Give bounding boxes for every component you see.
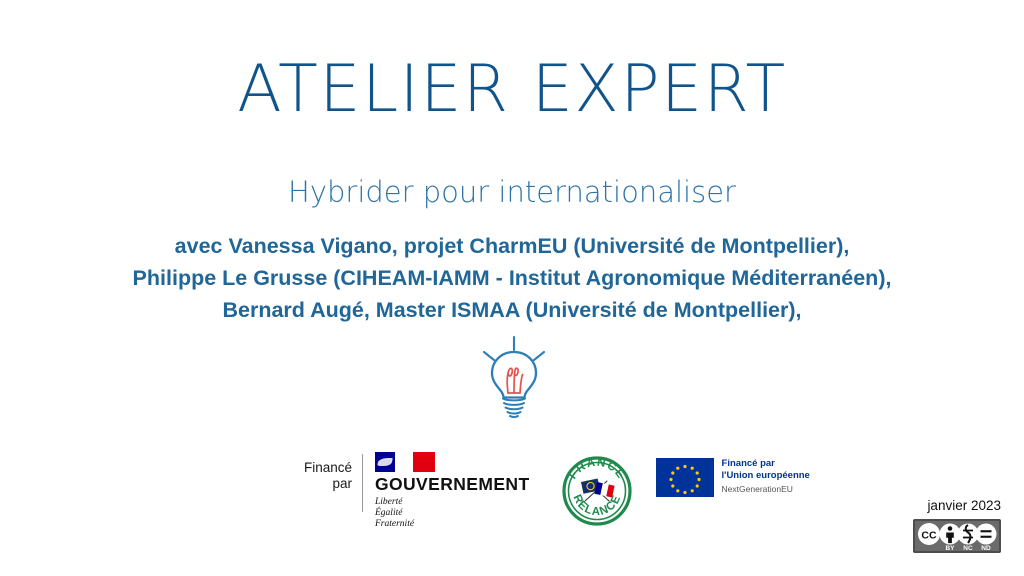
gouvernement-block: GOUVERNEMENT Liberté Égalité Fraternité: [363, 452, 530, 530]
cc-term-by: BY: [945, 545, 955, 552]
eu-flag-icon: [656, 458, 714, 497]
participant-line-2: Philippe Le Grusse (CIHEAM-IAMM - Instit…: [0, 262, 1024, 294]
cc-term-nd: ND: [981, 545, 991, 552]
page-title: ATELIER EXPERT: [0, 56, 1024, 124]
eu-line-3: NextGenerationEU: [722, 483, 810, 495]
motto-fraternite: Fraternité: [375, 519, 530, 530]
european-union-logo: Financé par l'Union européenne NextGener…: [656, 458, 810, 497]
funder-logos: Financé par GOUVERNEMENT Liberté Égalité…: [296, 452, 810, 542]
flag-blue-band: [375, 452, 395, 472]
svg-text:FRANCE: FRANCE: [567, 457, 627, 482]
motto-liberte: Liberté: [375, 497, 530, 508]
france-relance-logo: FRANCE RELANCE: [560, 454, 634, 533]
eu-funding-text: Financé par l'Union européenne NextGener…: [722, 458, 810, 495]
motto-egalite: Égalité: [375, 508, 530, 519]
cc-term-nc: NC: [963, 545, 973, 552]
creative-commons-license-badge[interactable]: CC BY NC ND: [913, 519, 1001, 558]
page-subtitle: Hybrider pour internationaliser: [0, 175, 1024, 210]
svg-text:CC: CC: [921, 530, 937, 542]
eu-line-2: l'Union européenne: [722, 470, 810, 482]
flag-red-band: [413, 452, 435, 472]
participant-line-1: avec Vanessa Vigano, projet CharmEU (Uni…: [0, 230, 1024, 262]
date-label: janvier 2023: [927, 498, 1001, 513]
lightbulb-icon: [468, 335, 560, 423]
participants-block: avec Vanessa Vigano, projet CharmEU (Uni…: [0, 230, 1024, 326]
svg-text:RELANCE: RELANCE: [570, 493, 623, 518]
slide-canvas: ATELIER EXPERT Hybrider pour internation…: [0, 0, 1024, 576]
participant-line-3: Bernard Augé, Master ISMAA (Université d…: [0, 294, 1024, 326]
flag-white-band: [395, 452, 413, 472]
french-flag-icon: [375, 452, 435, 472]
republic-motto: Liberté Égalité Fraternité: [375, 497, 530, 530]
gouvernement-logo: Financé par GOUVERNEMENT Liberté Égalité…: [296, 452, 530, 530]
finance-par-line2: par: [296, 476, 352, 492]
finance-par-line1: Financé: [296, 460, 352, 476]
finance-par-label: Financé par: [296, 452, 362, 492]
gouvernement-wordmark: GOUVERNEMENT: [375, 475, 530, 494]
eu-line-1: Financé par: [722, 458, 810, 470]
